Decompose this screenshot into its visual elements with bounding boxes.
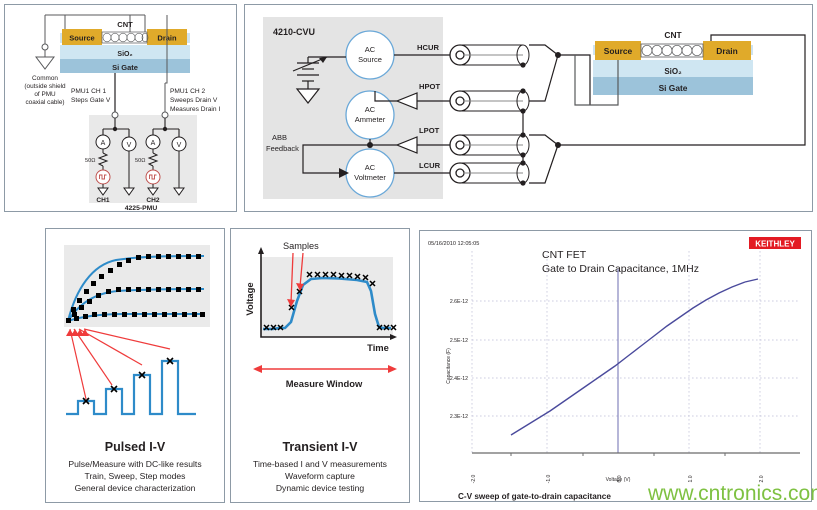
time-axis-label: Time (367, 342, 389, 353)
cnt-label: CNT (117, 20, 133, 29)
ch1-terminal (112, 112, 118, 118)
cnt-tube (102, 32, 148, 43)
samples-label: Samples (283, 241, 319, 251)
site-watermark: www.cntronics.com (648, 482, 817, 506)
hcur-label: HCUR (417, 43, 439, 52)
ch1-ammeter-label: A (101, 140, 106, 147)
cnt2-label: CNT (664, 30, 682, 40)
pulsed-iv-title: Pulsed I-V (105, 440, 166, 454)
ch2-voltmeter-label: V (177, 142, 182, 149)
chart-subtitle: Gate to Drain Capacitance, 1MHz (542, 263, 699, 275)
cv-plot-svg: 05/16/2010 12:05:05 KEITHLEY CNT FET Gat… (420, 231, 811, 501)
panel-cv-setup: 4210-CVU AC Source AC Ammeter AC Voltmet… (244, 4, 813, 212)
common-terminal (42, 44, 48, 50)
voltage-axis-label: Voltage (244, 282, 255, 315)
common-note-line2: (outside shield (24, 83, 66, 90)
pulsed-iv-bullet-1: Pulse/Measure with DC-like results (68, 459, 201, 469)
ac-voltmeter-line2: Voltmeter (354, 173, 386, 182)
panel-pulse-iv-setup: CNT Source Drain SiO₂ Si Gate Common (ou… (4, 4, 237, 212)
ch2-ammeter-label: A (151, 140, 156, 147)
lcur-label: LCUR (419, 161, 441, 170)
panel-cv-plot: 05/16/2010 12:05:05 KEITHLEY CNT FET Gat… (419, 230, 812, 502)
ch1-note-line2: Steps Gate V (71, 97, 111, 104)
source2-label: Source (604, 46, 633, 56)
ac-source-line2: Source (358, 55, 382, 64)
ch1-node (113, 127, 117, 131)
ch2-note-line3: Measures Drain I (170, 106, 220, 113)
cvu-instrument-label: 4210-CVU (273, 27, 315, 37)
ch2-pulse-source (146, 170, 160, 184)
y-axis-title: Capacitance (F) (446, 348, 452, 384)
cv-plot-caption: C-V sweep of gate-to-drain capacitance (458, 492, 611, 501)
ch2-resistor-label: 50Ω (135, 158, 145, 164)
ch2-note-line1: PMU1 CH 2 (170, 88, 206, 95)
pmu-instrument-label: 4225-PMU (125, 205, 158, 211)
ch1-resistor-label: 50Ω (85, 158, 95, 164)
ch2-terminal (162, 112, 168, 118)
pulsed-iv-bullet-2: Train, Sweep, Step modes (85, 471, 186, 481)
gate2-label: Si Gate (659, 83, 688, 93)
source-label: Source (69, 34, 94, 43)
transient-iv-bullet-1: Time-based I and V measurements (253, 459, 387, 469)
gate-label: Si Gate (112, 63, 138, 72)
ytick-2: 2.4E-12 (450, 376, 468, 382)
ch1-label: CH1 (96, 197, 110, 204)
transient-iv-bullet-3: Dynamic device testing (276, 483, 365, 493)
abb-feedback-line1: ABB (272, 133, 287, 142)
x-axis-title: Voltage (V) (606, 477, 631, 483)
ch2-note-line2: Sweeps Drain V (170, 97, 218, 104)
ac-ammeter-line2: Ammeter (355, 115, 386, 124)
plot-timestamp: 05/16/2010 12:05:05 (428, 241, 479, 247)
measure-window-label: Measure Window (286, 378, 363, 389)
ch1-note-line1: PMU1 CH 1 (71, 88, 107, 95)
drain2-label: Drain (716, 46, 737, 56)
oxide2-label: SiO₂ (664, 67, 682, 76)
ac-ammeter-line1: AC (365, 105, 376, 114)
pulsed-iv-bullet-3: General device characterization (75, 483, 196, 493)
oxide-label: SiO₂ (117, 51, 132, 58)
xtick-1: -1.0 (546, 474, 552, 483)
common-note-line4: coaxial cable) (25, 99, 64, 106)
ac-voltmeter-line1: AC (365, 163, 376, 172)
cv-diagram: 4210-CVU AC Source AC Ammeter AC Voltmet… (245, 5, 812, 211)
common-ground-symbol (36, 57, 54, 69)
coax-cables (460, 45, 529, 183)
abb-feedback-line2: Feedback (266, 144, 299, 153)
ch1-pulse-source (96, 170, 110, 184)
hpot-label: HPOT (419, 82, 440, 91)
transient-iv-bullet-2: Waveform capture (285, 471, 355, 481)
pulsed-iv-graphic: Pulsed I-V Pulse/Measure with DC-like re… (46, 229, 224, 502)
panel-transient-iv: Samples Voltage Time Measure Window Tran… (230, 228, 410, 503)
common-note-line3: of PMU (34, 91, 56, 98)
chart-title: CNT FET (542, 249, 587, 261)
pulse-train (66, 361, 196, 414)
cnt2-tube (641, 44, 703, 57)
ch1-voltmeter-label: V (127, 142, 132, 149)
panel-pulsed-iv: Pulsed I-V Pulse/Measure with DC-like re… (45, 228, 225, 503)
pulse-iv-diagram: CNT Source Drain SiO₂ Si Gate Common (ou… (5, 5, 236, 211)
ytick-1: 2.5E-12 (450, 338, 468, 344)
lpot-label: LPOT (419, 126, 440, 135)
keithley-logo-text: KEITHLEY (755, 240, 795, 249)
ch2-label: CH2 (146, 197, 160, 204)
transient-iv-title: Transient I-V (282, 440, 358, 454)
coax-connectors (450, 45, 470, 183)
ch2-node (163, 127, 167, 131)
common-note-line1: Common (32, 75, 58, 82)
xtick-0: -2.0 (471, 474, 477, 483)
ac-source-line1: AC (365, 45, 376, 54)
transient-iv-graphic: Samples Voltage Time Measure Window Tran… (231, 229, 409, 502)
pulse-sample-markers (83, 358, 173, 404)
keithley-logo: KEITHLEY (749, 237, 801, 249)
ytick-3: 2.3E-12 (450, 414, 468, 420)
measure-window-arrow (253, 365, 397, 373)
cable-merge-paths (529, 45, 558, 183)
ytick-0: 2.6E-12 (450, 299, 468, 305)
